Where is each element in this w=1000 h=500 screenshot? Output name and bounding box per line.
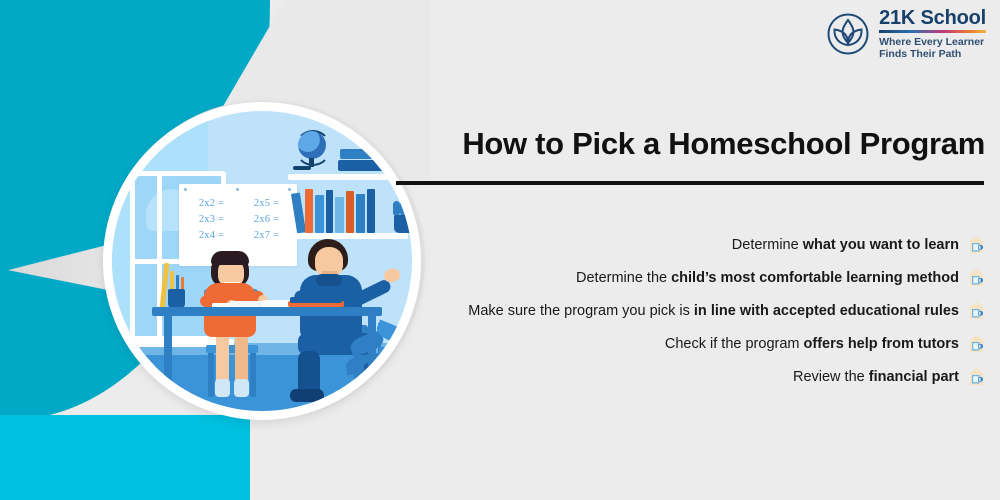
teacher-collar bbox=[316, 274, 342, 286]
house-document-icon bbox=[968, 235, 985, 254]
book-stack-icon bbox=[338, 160, 398, 171]
book-icon bbox=[305, 189, 313, 233]
list-item-text: Determine what you want to learn bbox=[732, 237, 959, 253]
shelf bbox=[288, 233, 408, 239]
chair-leg bbox=[250, 353, 256, 397]
list-item[interactable]: Check if the program offers help from tu… bbox=[420, 327, 985, 360]
book-icon bbox=[346, 191, 354, 233]
shelf bbox=[288, 174, 408, 180]
list-item[interactable]: Determine the child’s most comfortable l… bbox=[420, 261, 985, 294]
page-title: How to Pick a Homeschool Program bbox=[400, 126, 985, 162]
house-document-icon bbox=[968, 367, 985, 386]
chair-seat bbox=[206, 345, 258, 353]
house-document-icon bbox=[968, 301, 985, 320]
whiteboard-pin bbox=[288, 188, 291, 191]
student-sock bbox=[234, 379, 249, 397]
book-icon bbox=[356, 194, 365, 233]
brand-tagline-line1: Where Every Learner bbox=[879, 36, 986, 48]
house-document-icon bbox=[968, 334, 985, 353]
whiteboard-pin bbox=[236, 188, 239, 191]
book-icon bbox=[291, 193, 306, 234]
infographic-canvas: 2x2 = 2x5 = 2x3 = 2x6 = 2x4 = 2x7 = bbox=[0, 0, 1000, 500]
desk-icon bbox=[152, 307, 382, 316]
equation: 2x6 = bbox=[242, 212, 291, 227]
list-item-text: Check if the program offers help from tu… bbox=[665, 336, 959, 352]
list-item[interactable]: Make sure the program you pick is in lin… bbox=[420, 294, 985, 327]
cactus-plant-icon bbox=[410, 199, 412, 216]
whiteboard-equations: 2x2 = 2x5 = 2x3 = 2x6 = 2x4 = 2x7 = bbox=[187, 196, 291, 243]
tips-list: Determine what you want to learn Determi… bbox=[420, 228, 985, 393]
brand-tagline-line2: Finds Their Path bbox=[879, 48, 986, 60]
teal-background-bottom bbox=[0, 415, 250, 500]
book-icon bbox=[367, 189, 375, 233]
equation: 2x5 = bbox=[242, 196, 291, 211]
globe-base bbox=[293, 166, 311, 170]
equation: 2x4 = bbox=[187, 228, 236, 243]
desk-book-icon bbox=[290, 297, 342, 303]
list-item-text: Determine the child’s most comfortable l… bbox=[576, 270, 959, 286]
lotus-circle-icon bbox=[826, 12, 870, 56]
equation: 2x2 = bbox=[187, 196, 236, 211]
title-divider bbox=[396, 181, 984, 185]
house-document-icon bbox=[968, 268, 985, 287]
teacher-shoe bbox=[290, 389, 324, 402]
whiteboard-pin bbox=[184, 188, 187, 191]
cactus-plant-icon bbox=[400, 193, 409, 217]
student-hair-front bbox=[211, 251, 249, 265]
equation: 2x3 = bbox=[187, 212, 236, 227]
list-item-text: Make sure the program you pick is in lin… bbox=[468, 303, 959, 319]
plant-pot bbox=[394, 215, 412, 233]
brand-name: 21K School bbox=[879, 8, 986, 28]
student-sock bbox=[215, 379, 230, 397]
list-item[interactable]: Determine what you want to learn bbox=[420, 228, 985, 261]
book-icon bbox=[315, 195, 324, 233]
book-icon bbox=[335, 197, 344, 233]
book-stack-icon bbox=[340, 149, 396, 159]
brand-text: 21K School Where Every Learner Finds The… bbox=[879, 8, 986, 60]
brand-underline bbox=[879, 30, 986, 33]
equation: 2x7 = bbox=[242, 228, 291, 243]
homeschool-classroom-illustration: 2x2 = 2x5 = 2x3 = 2x6 = 2x4 = 2x7 = bbox=[112, 111, 412, 411]
list-item[interactable]: Review the financial part bbox=[420, 360, 985, 393]
cactus-plant-icon bbox=[393, 201, 400, 216]
desk-leg bbox=[164, 316, 172, 398]
list-item-text: Review the financial part bbox=[793, 369, 959, 385]
pencil-icon bbox=[170, 271, 174, 291]
desk-leg bbox=[368, 316, 376, 398]
brand-logo[interactable]: 21K School Where Every Learner Finds The… bbox=[826, 8, 986, 60]
globe-icon bbox=[298, 131, 326, 159]
pencil-cup-icon bbox=[168, 289, 185, 308]
book-icon bbox=[326, 190, 333, 233]
bookshelf-icon bbox=[294, 189, 384, 233]
chair-leg bbox=[208, 353, 214, 397]
